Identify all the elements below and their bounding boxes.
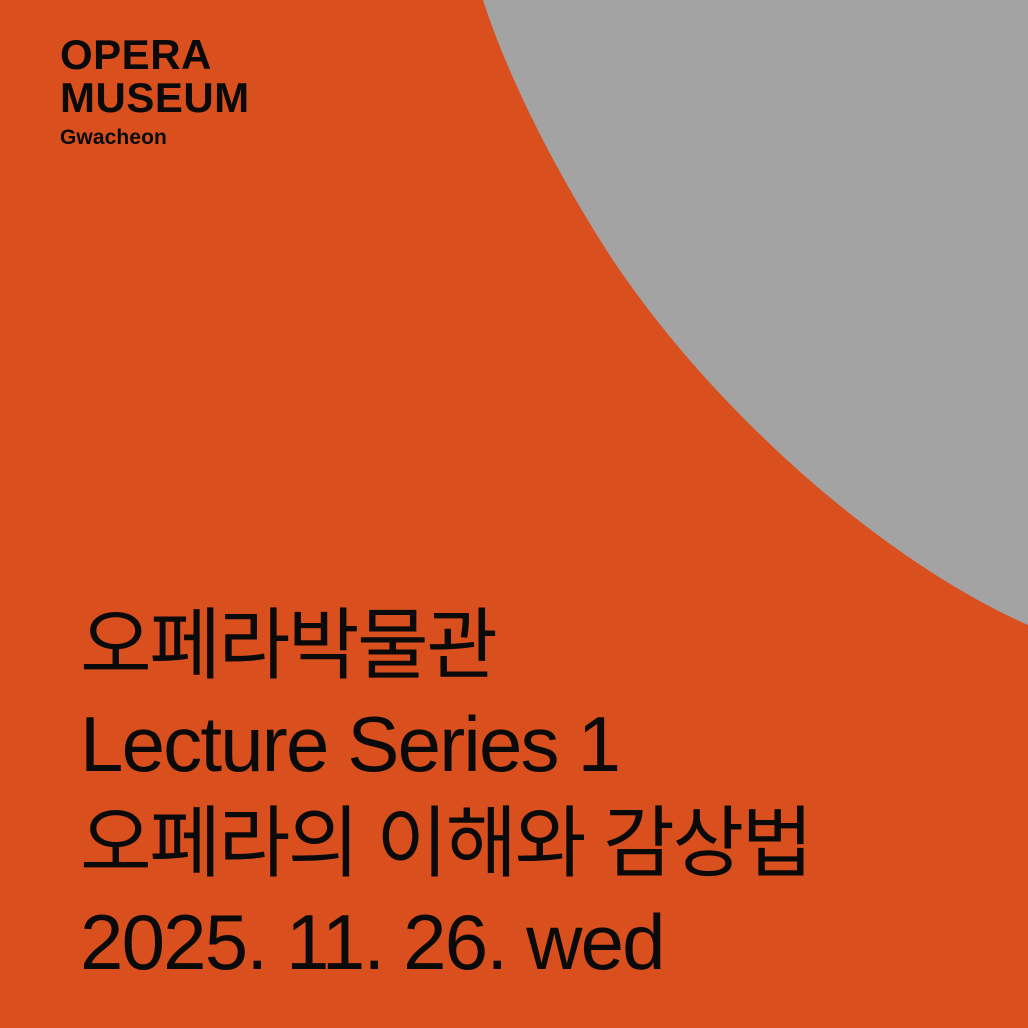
headline-date: 2025. 11. 26. wed <box>80 893 811 992</box>
logo-line-opera: OPERA <box>60 34 250 77</box>
headline-organization: 오페라박물관 <box>80 596 811 695</box>
logo-line-museum: MUSEUM <box>60 77 250 120</box>
logo-location-gwacheon: Gwacheon <box>60 127 250 148</box>
headline-series-title: Lecture Series 1 <box>80 695 811 794</box>
poster-canvas: OPERA MUSEUM Gwacheon 오페라박물관 Lecture Ser… <box>0 0 1028 1028</box>
museum-logo: OPERA MUSEUM Gwacheon <box>60 34 250 148</box>
headline-block: 오페라박물관 Lecture Series 1 오페라의 이해와 감상법 202… <box>80 596 811 992</box>
headline-lecture-title: 오페라의 이해와 감상법 <box>80 794 811 893</box>
